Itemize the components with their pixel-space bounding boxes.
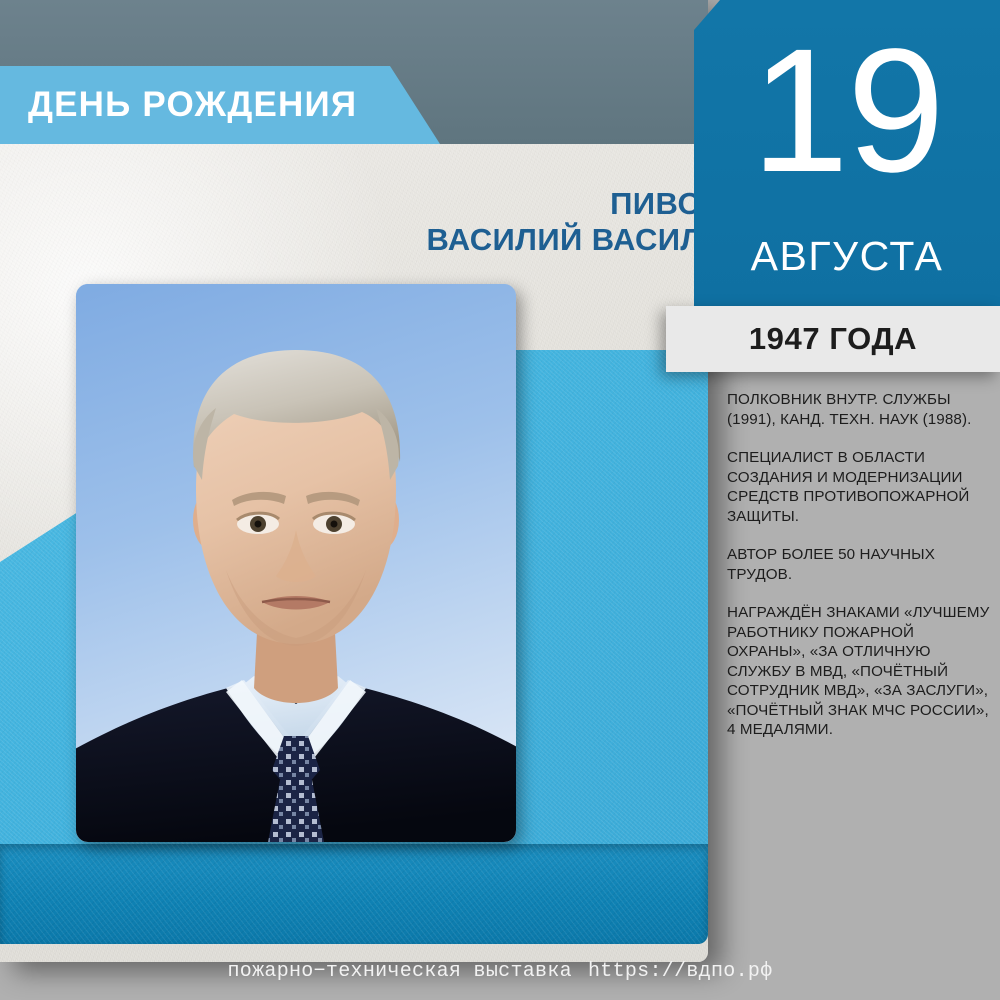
date-month: АВГУСТА bbox=[694, 234, 1000, 278]
ribbon-label: ДЕНЬ РОЖДЕНИЯ bbox=[28, 66, 428, 144]
bio-awards: НАГРАЖДЁН ЗНАКАМИ «ЛУЧШЕМУ РАБОТНИКУ ПОЖ… bbox=[727, 603, 993, 740]
portrait-photo bbox=[76, 284, 516, 842]
bio-works: АВТОР БОЛЕЕ 50 НАУЧНЫХ ТРУДОВ. bbox=[727, 545, 993, 584]
year-label: 1947 ГОДА bbox=[666, 306, 1000, 372]
footer-exhibition-label: пожарно−техническая выставка bbox=[228, 960, 572, 983]
bio-rank: ПОЛКОВНИК ВНУТР. СЛУЖБЫ (1991), КАНД. ТЕ… bbox=[727, 390, 993, 429]
date-day: 19 bbox=[694, 18, 1000, 204]
bio-specialty: СПЕЦИАЛИСТ В ОБЛАСТИ СОЗДАНИЯ И МОДЕРНИЗ… bbox=[727, 448, 993, 526]
footer-url[interactable]: https://вдпо.рф bbox=[588, 960, 773, 983]
birthday-poster: ДЕНЬ РОЖДЕНИЯ ПИВОВАРОВ ВАСИЛИЙ ВАСИЛЬЕВ… bbox=[0, 0, 1000, 1000]
card-footer-texture bbox=[0, 844, 708, 944]
footer-site-line: пожарно−техническая выставкаhttps://вдпо… bbox=[0, 944, 1000, 1000]
biography: ПОЛКОВНИК ВНУТР. СЛУЖБЫ (1991), КАНД. ТЕ… bbox=[727, 390, 993, 740]
